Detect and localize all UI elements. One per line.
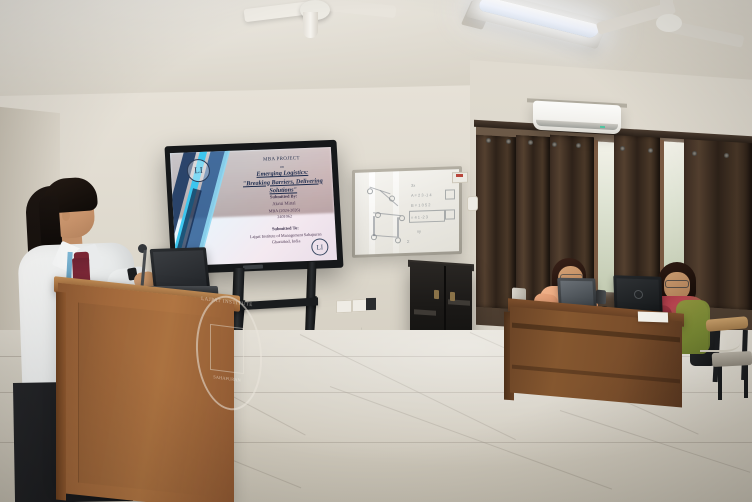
laptop-logo-icon [634, 290, 643, 300]
ac-status-led [600, 126, 605, 128]
curtain-grommet [576, 143, 581, 148]
cabinet-handle[interactable] [434, 290, 439, 299]
curtain-panel[interactable] [516, 135, 550, 311]
presentation-room-photo: 3x A = 2 3 -1 4 B = 1 0 5 2 = 4 1 -2 3 x… [0, 0, 752, 502]
chair-leg [744, 364, 748, 398]
chair-leg [718, 364, 722, 400]
curtain-grommet [648, 148, 653, 153]
curtain-grommet [620, 146, 625, 151]
wall-socket[interactable] [352, 299, 367, 313]
tumbler[interactable] [596, 290, 606, 305]
curtain-grommet [552, 142, 557, 147]
window-pane [598, 142, 614, 293]
laptop-screen[interactable] [153, 250, 207, 290]
eyeglasses-icon [665, 280, 689, 288]
slide-title-line2: "Breaking Barriers, Delivering Solutions… [243, 177, 323, 194]
curtain-grommet [486, 138, 491, 143]
wall-switch-plate[interactable] [467, 196, 478, 211]
ceiling-fan-icon [303, 12, 318, 38]
wall-plug [366, 298, 376, 310]
whiteboard-surface[interactable]: 3x A = 2 3 -1 4 B = 1 0 5 2 = 4 1 -2 3 x… [355, 169, 459, 255]
cabinet-handle[interactable] [450, 292, 455, 301]
curtain-grommet [506, 139, 511, 144]
laptop-screen[interactable] [560, 281, 593, 306]
curtain-grommet [724, 153, 729, 158]
chair-seat[interactable] [712, 351, 752, 367]
curtain-panel[interactable] [476, 135, 516, 309]
curtain-grommet [692, 151, 697, 156]
wall-socket[interactable] [336, 300, 352, 314]
curtain-grommet [528, 140, 533, 145]
podium-left-edge [56, 291, 66, 500]
window-frame [594, 140, 598, 294]
paper-sheets[interactable] [638, 311, 668, 322]
ceiling-fan-icon [656, 14, 682, 32]
cabinet-door-seam [444, 266, 446, 340]
floor-cable [700, 330, 740, 352]
device-indicator [456, 174, 463, 177]
crest-inner-shield [210, 324, 244, 374]
